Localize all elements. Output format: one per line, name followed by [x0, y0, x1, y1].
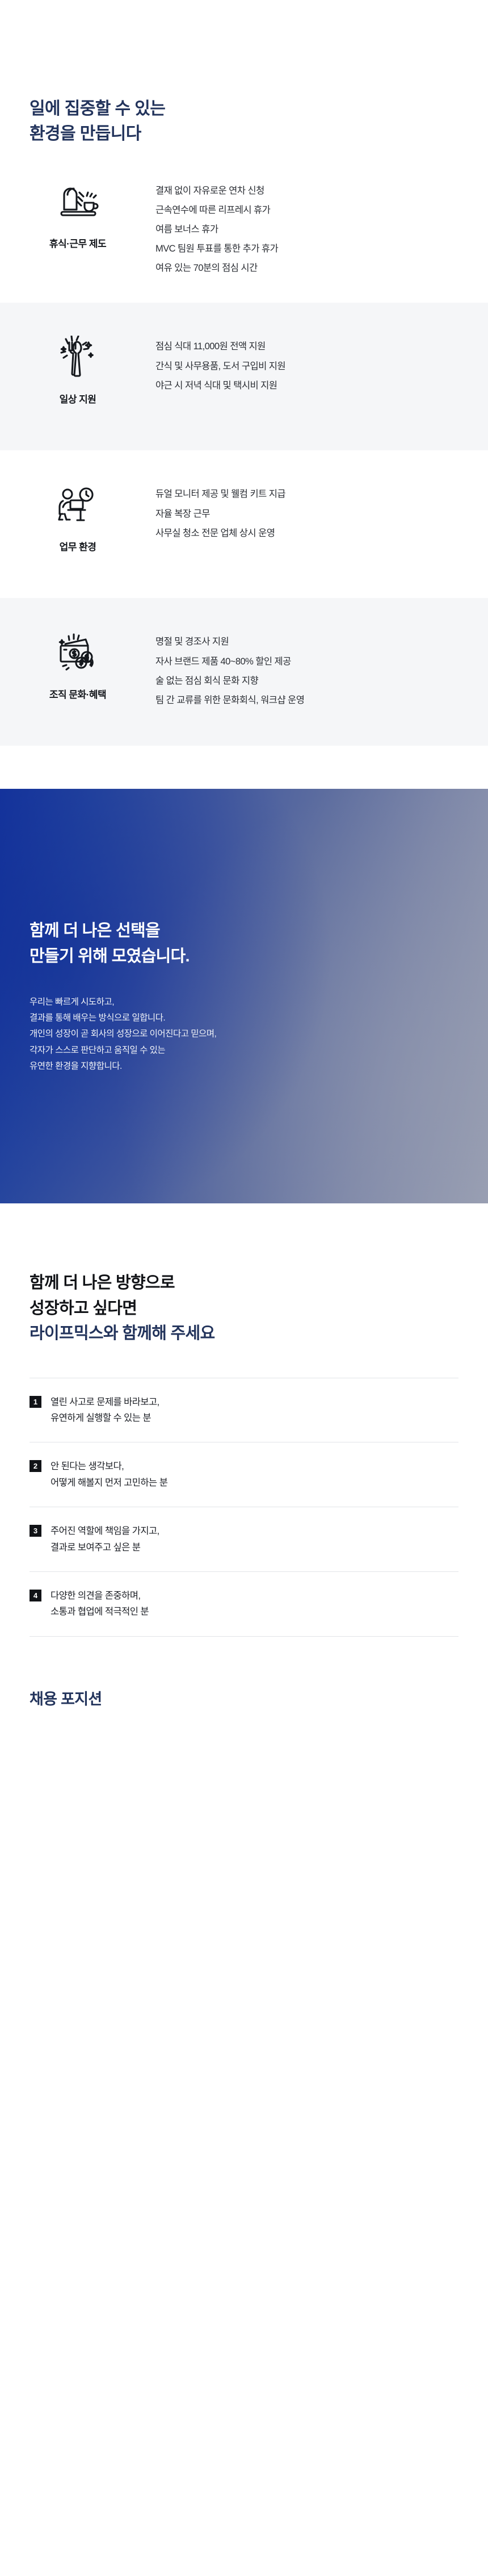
- culture-heading: 함께 더 나은 선택을 만들기 위해 모였습니다.: [30, 918, 488, 969]
- who-list-item: 3 주어진 역할에 책임을 가지고, 결과로 보여주고 싶은 분: [30, 1507, 458, 1572]
- who-list-item: 4 다양한 의견을 존중하며, 소통과 협업에 적극적인 분: [30, 1572, 458, 1637]
- benefit-group-items: 점심 식대 11,000원 전액 지원 간식 및 사무용품, 도서 구입비 지원…: [155, 328, 488, 395]
- who-item-line: 열린 사고로 문제를 바라보고,: [51, 1394, 159, 1410]
- toast-and-coffee-icon: [53, 179, 102, 223]
- culture-heading-line-1: 함께 더 나은 선택을: [30, 918, 488, 944]
- benefits-heading-line-1: 일에 집중할 수 있는: [30, 97, 488, 122]
- who-item-line: 소통과 협업에 적극적인 분: [51, 1604, 149, 1620]
- fork-spoon-sparkle-icon: [53, 334, 102, 379]
- who-item-number: 2: [30, 1460, 41, 1472]
- culture-section: 함께 더 나은 선택을 만들기 위해 모였습니다. 우리는 빠르게 시도하고, …: [0, 789, 488, 1203]
- who-heading: 함께 더 나은 방향으로 성장하고 싶다면 라이프믹스와 함께해 주세요: [30, 1270, 488, 1345]
- who-heading-line-2: 성장하고 싶다면: [30, 1296, 488, 1321]
- benefit-item: 사무실 청소 전문 업체 상시 운영: [155, 524, 488, 543]
- who-item-text: 열린 사고로 문제를 바라보고, 유연하게 실행할 수 있는 분: [51, 1394, 159, 1427]
- who-item-text: 다양한 의견을 존중하며, 소통과 협업에 적극적인 분: [51, 1588, 149, 1620]
- positions-title: 채용 포지션: [30, 1687, 488, 1709]
- culture-body-line: 각자가 스스로 판단하고 움직일 수 있는: [30, 1043, 488, 1059]
- benefit-item: 팀 간 교류를 위한 문화회식, 워크샵 운영: [155, 691, 488, 710]
- culture-heading-line-2: 만들기 위해 모였습니다.: [30, 944, 488, 969]
- benefit-group-work-environment: 업무 환경 듀얼 모니터 제공 및 웰컴 키트 지급 자율 복장 근무 사무실 …: [0, 450, 488, 598]
- cash-money-icon: [53, 630, 102, 674]
- culture-body-line: 결과를 통해 배우는 방식으로 일합니다.: [30, 1010, 488, 1026]
- benefit-item: MVC 팀원 투표를 통한 추가 휴가: [155, 239, 488, 258]
- benefit-group-label: 휴식·근무 제도: [49, 236, 106, 250]
- benefit-group-items: 듀얼 모니터 제공 및 웰컴 키트 지급 자율 복장 근무 사무실 청소 전문 …: [155, 475, 488, 542]
- benefit-item: 야근 시 저녁 식대 및 택시비 지원: [155, 376, 488, 395]
- benefit-item: 술 없는 점심 회식 문화 지향: [155, 671, 488, 691]
- who-item-line: 결과로 보여주고 싶은 분: [51, 1540, 159, 1555]
- who-item-text: 주어진 역할에 책임을 가지고, 결과로 보여주고 싶은 분: [51, 1523, 159, 1555]
- benefit-group-items: 결재 없이 자유로운 연차 신청 근속연수에 따른 리프레시 휴가 여름 보너스…: [155, 172, 488, 278]
- who-item-number: 1: [30, 1396, 41, 1408]
- who-list-item: 1 열린 사고로 문제를 바라보고, 유연하게 실행할 수 있는 분: [30, 1378, 458, 1443]
- culture-body-line: 개인의 성장이 곧 회사의 성장으로 이어진다고 믿으며,: [30, 1026, 488, 1042]
- who-we-want-section: 함께 더 나은 방향으로 성장하고 싶다면 라이프믹스와 함께해 주세요 1 열…: [0, 1203, 488, 1636]
- benefit-group-rest-work: 휴식·근무 제도 결재 없이 자유로운 연차 신청 근속연수에 따른 리프레시 …: [0, 147, 488, 303]
- benefit-group-label: 일상 지원: [60, 391, 96, 405]
- benefit-group-culture-benefits: 조직 문화·혜택 명절 및 경조사 지원 자사 브랜드 제품 40~80% 할인…: [0, 598, 488, 746]
- benefit-item: 결재 없이 자유로운 연차 신청: [155, 181, 488, 200]
- who-item-number: 3: [30, 1525, 41, 1537]
- benefits-section: 일에 집중할 수 있는 환경을 만듭니다 휴식·근무 제도 결재 없이 자유로운…: [0, 0, 488, 746]
- benefit-item: 명절 및 경조사 지원: [155, 632, 488, 651]
- who-item-line: 유연하게 실행할 수 있는 분: [51, 1410, 159, 1426]
- person-at-desk-icon: [53, 482, 102, 526]
- benefit-group-left: 일상 지원: [0, 328, 155, 405]
- benefit-group-label: 업무 환경: [60, 539, 96, 553]
- benefit-item: 간식 및 사무용품, 도서 구입비 지원: [155, 357, 488, 376]
- benefit-item: 점심 식대 11,000원 전액 지원: [155, 337, 488, 356]
- culture-body-line: 유연한 환경을 지향합니다.: [30, 1059, 488, 1074]
- who-heading-line-1: 함께 더 나은 방향으로: [30, 1270, 488, 1295]
- benefit-group-left: 휴식·근무 제도: [0, 172, 155, 250]
- benefit-group-left: 업무 환경: [0, 475, 155, 553]
- who-item-line: 안 된다는 생각보다,: [51, 1458, 167, 1474]
- benefit-item: 자사 브랜드 제품 40~80% 할인 제공: [155, 652, 488, 671]
- who-heading-accent-line: 라이프믹스와 함께해 주세요: [30, 1321, 488, 1346]
- benefit-group-daily-support: 일상 지원 점심 식대 11,000원 전액 지원 간식 및 사무용품, 도서 …: [0, 303, 488, 450]
- who-item-line: 다양한 의견을 존중하며,: [51, 1588, 149, 1604]
- benefit-item: 여유 있는 70분의 점심 시간: [155, 258, 488, 278]
- who-list: 1 열린 사고로 문제를 바라보고, 유연하게 실행할 수 있는 분 2 안 된…: [30, 1378, 458, 1637]
- benefit-group-label: 조직 문화·혜택: [49, 687, 106, 701]
- benefit-group-items: 명절 및 경조사 지원 자사 브랜드 제품 40~80% 할인 제공 술 없는 …: [155, 623, 488, 710]
- benefits-heading-line-2: 환경을 만듭니다: [30, 122, 488, 147]
- positions-section: 채용 포지션: [0, 1637, 488, 1735]
- culture-body-line: 우리는 빠르게 시도하고,: [30, 994, 488, 1010]
- benefit-item: 듀얼 모니터 제공 및 웰컴 키트 지급: [155, 484, 488, 504]
- who-list-item: 2 안 된다는 생각보다, 어떻게 해볼지 먼저 고민하는 분: [30, 1442, 458, 1507]
- benefit-item: 여름 보너스 휴가: [155, 220, 488, 239]
- benefit-group-left: 조직 문화·혜택: [0, 623, 155, 701]
- culture-body: 우리는 빠르게 시도하고, 결과를 통해 배우는 방식으로 일합니다. 개인의 …: [30, 994, 488, 1074]
- who-item-line: 어떻게 해볼지 먼저 고민하는 분: [51, 1475, 167, 1491]
- benefits-heading: 일에 집중할 수 있는 환경을 만듭니다: [0, 0, 488, 147]
- who-item-text: 안 된다는 생각보다, 어떻게 해볼지 먼저 고민하는 분: [51, 1458, 167, 1491]
- benefit-item: 근속연수에 따른 리프레시 휴가: [155, 200, 488, 220]
- who-item-line: 주어진 역할에 책임을 가지고,: [51, 1523, 159, 1539]
- who-item-number: 4: [30, 1590, 41, 1601]
- benefit-item: 자율 복장 근무: [155, 504, 488, 524]
